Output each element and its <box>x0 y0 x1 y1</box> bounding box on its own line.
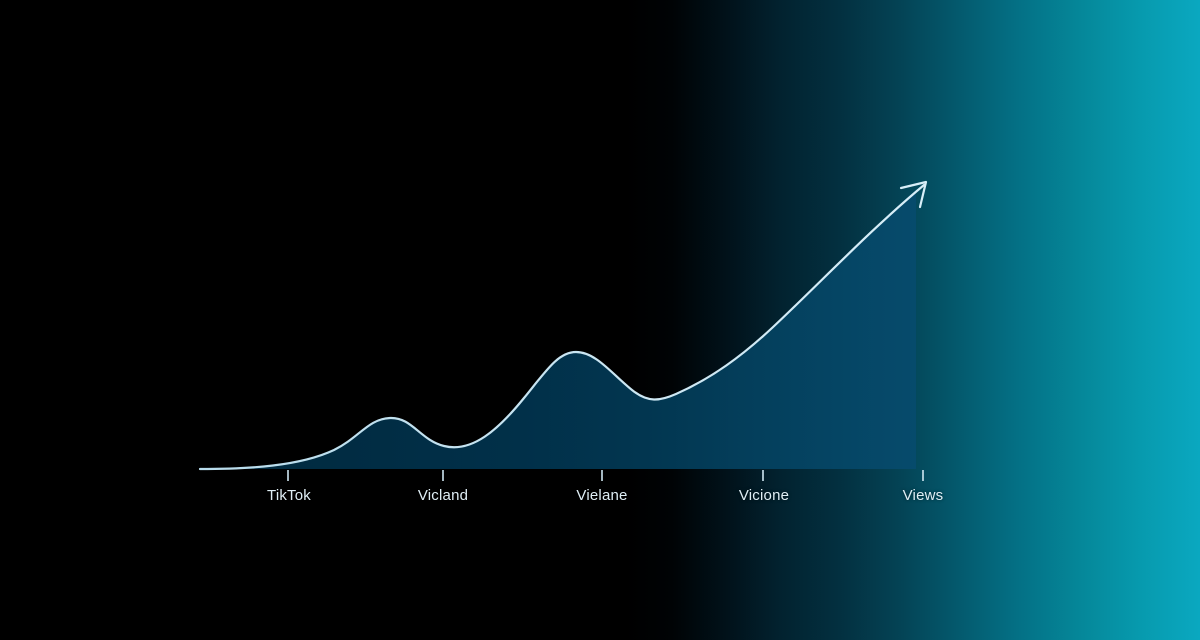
axis-label-vicland: Vicland <box>418 487 468 504</box>
chart-canvas: TikTok Vicland Vielane Vicione Views <box>0 0 1200 640</box>
growth-area-chart <box>0 0 1200 640</box>
axis-label-tiktok: TikTok <box>267 487 311 504</box>
axis-label-vielane: Vielane <box>576 487 627 504</box>
axis-label-views: Views <box>903 487 944 504</box>
axis-label-vicione: Vicione <box>739 487 789 504</box>
area-fill-path <box>200 190 916 469</box>
